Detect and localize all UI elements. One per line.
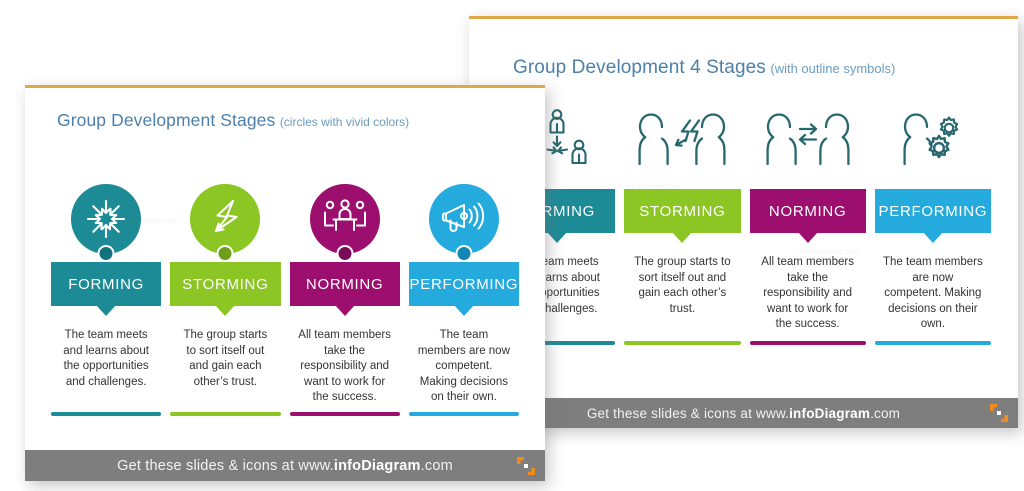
stage-column-norming[interactable]: NORMING All team members take the respon… xyxy=(750,189,866,345)
stage-description-norming: All team members take the responsibility… xyxy=(290,328,400,406)
page-title-subtitle: (circles with vivid colors) xyxy=(280,115,409,129)
stage-rule-performing xyxy=(409,412,519,416)
arrows-converge-icon xyxy=(85,198,127,240)
screenshot-canvas: Group Development 4 Stages (with outline… xyxy=(0,0,1024,491)
stage-description-storming: The group starts to sort itself out and … xyxy=(624,255,740,337)
banner-notch-icon xyxy=(335,305,355,316)
outline-icons-row xyxy=(499,107,991,171)
infodiagram-logo-icon[interactable] xyxy=(516,456,536,476)
page-title: Group Development 4 Stages (with outline… xyxy=(513,57,895,79)
stage-circle-storming[interactable] xyxy=(190,184,260,254)
stage-rule-forming xyxy=(51,412,161,416)
stage-rule-performing xyxy=(875,341,991,345)
stage-rule-norming xyxy=(290,412,400,416)
footer-brand: infoDiagram xyxy=(334,458,421,474)
banner-notch-icon xyxy=(672,232,692,243)
connector-knob xyxy=(336,245,353,262)
icon-cell-norming[interactable] xyxy=(750,107,866,171)
slide-group-development-4-stages[interactable]: Group Development 4 Stages (with outline… xyxy=(469,16,1018,428)
stage-icon-wrap-forming[interactable] xyxy=(51,184,161,262)
person-gears-icon xyxy=(893,108,973,171)
footer-text: Get these slides & icons at www.infoDiag… xyxy=(587,406,900,421)
banner-notch-icon xyxy=(215,305,235,316)
stage-banner-storming[interactable]: STORMING xyxy=(624,189,740,233)
stage-label-performing: PERFORMING xyxy=(410,276,519,293)
stage-icon-wrap-storming[interactable] xyxy=(170,184,280,262)
stage-circle-norming[interactable] xyxy=(310,184,380,254)
stage-description-storming: The group starts to sort itself out and … xyxy=(170,328,280,406)
stage-rule-storming xyxy=(624,341,740,345)
stage-circle-performing[interactable] xyxy=(429,184,499,254)
footer-banner[interactable]: Get these slides & icons at www.infoDiag… xyxy=(25,450,545,481)
connector-knob xyxy=(217,245,234,262)
connector-knob xyxy=(455,245,472,262)
banner-notch-icon xyxy=(798,232,818,243)
stage-rule-storming xyxy=(170,412,280,416)
footer-banner[interactable]: Get these slides & icons at www.infoDiag… xyxy=(469,398,1018,428)
stage-label-storming: STORMING xyxy=(639,203,725,220)
stage-column-storming[interactable]: STORMING The group starts to sort itself… xyxy=(624,189,740,345)
page-title-subtitle: (with outline symbols) xyxy=(770,61,895,76)
stage-banner-norming[interactable]: NORMING xyxy=(750,189,866,233)
lightning-bolt-icon xyxy=(205,198,245,240)
stage-label-performing: PERFORMING xyxy=(879,203,988,220)
infodiagram-logo-icon[interactable] xyxy=(989,403,1009,423)
megaphone-icon xyxy=(442,200,486,238)
footer-suffix: .com xyxy=(870,406,900,421)
stage-label-norming: NORMING xyxy=(306,276,383,293)
stage-banner-forming[interactable]: FORMING xyxy=(51,262,161,306)
page-title: Group Development Stages (circles with v… xyxy=(57,110,409,131)
stage-banner-storming[interactable]: STORMING xyxy=(170,262,280,306)
footer-text: Get these slides & icons at www.infoDiag… xyxy=(117,458,453,474)
stage-column-norming[interactable]: NORMING All team members take the respon… xyxy=(290,184,400,416)
stage-label-forming: FORMING xyxy=(68,276,144,293)
page-title-main: Group Development 4 Stages xyxy=(513,57,766,78)
stage-banner-performing[interactable]: PERFORMING xyxy=(409,262,519,306)
two-people-lightning-icon xyxy=(638,108,726,171)
stage-rule-norming xyxy=(750,341,866,345)
stage-banner-performing[interactable]: PERFORMING xyxy=(875,189,991,233)
banner-notch-icon xyxy=(454,305,474,316)
stage-banner-norming[interactable]: NORMING xyxy=(290,262,400,306)
stage-column-performing[interactable]: PERFORMING The team members are now comp… xyxy=(875,189,991,345)
two-people-arrows-icon xyxy=(764,108,852,171)
stage-description-performing: The team members are now competent. Maki… xyxy=(875,255,991,337)
meeting-table-people-icon xyxy=(323,199,367,239)
stage-label-storming: STORMING xyxy=(182,276,268,293)
stages-row: FORMING The team meets and learns about … xyxy=(499,189,991,345)
footer-brand: infoDiagram xyxy=(789,406,870,421)
stage-column-performing[interactable]: PERFORMING The team members are now comp… xyxy=(409,184,519,416)
banner-notch-icon xyxy=(923,232,943,243)
stage-description-forming: The team meets and learns about the oppo… xyxy=(51,328,161,406)
stage-description-norming: All team members take the responsibility… xyxy=(750,255,866,337)
banner-notch-icon xyxy=(547,232,567,243)
icon-cell-storming[interactable] xyxy=(624,107,740,171)
slide-group-development-stages[interactable]: Group Development Stages (circles with v… xyxy=(25,85,545,481)
footer-suffix: .com xyxy=(421,458,453,474)
page-title-main: Group Development Stages xyxy=(57,110,275,130)
connector-knob xyxy=(98,245,115,262)
stage-label-norming: NORMING xyxy=(769,203,846,220)
stage-icon-wrap-performing[interactable] xyxy=(409,184,519,262)
icon-cell-performing[interactable] xyxy=(875,107,991,171)
banner-notch-icon xyxy=(96,305,116,316)
stage-circle-forming[interactable] xyxy=(71,184,141,254)
stage-description-performing: The team members are now competent. Maki… xyxy=(409,328,519,406)
footer-prefix: Get these slides & icons at www. xyxy=(587,406,789,421)
stage-column-forming[interactable]: FORMING The team meets and learns about … xyxy=(51,184,161,416)
stages-row: FORMING The team meets and learns about … xyxy=(51,184,519,416)
stage-column-storming[interactable]: STORMING The group starts to sort itself… xyxy=(170,184,280,416)
stage-icon-wrap-norming[interactable] xyxy=(290,184,400,262)
footer-prefix: Get these slides & icons at www. xyxy=(117,458,334,474)
